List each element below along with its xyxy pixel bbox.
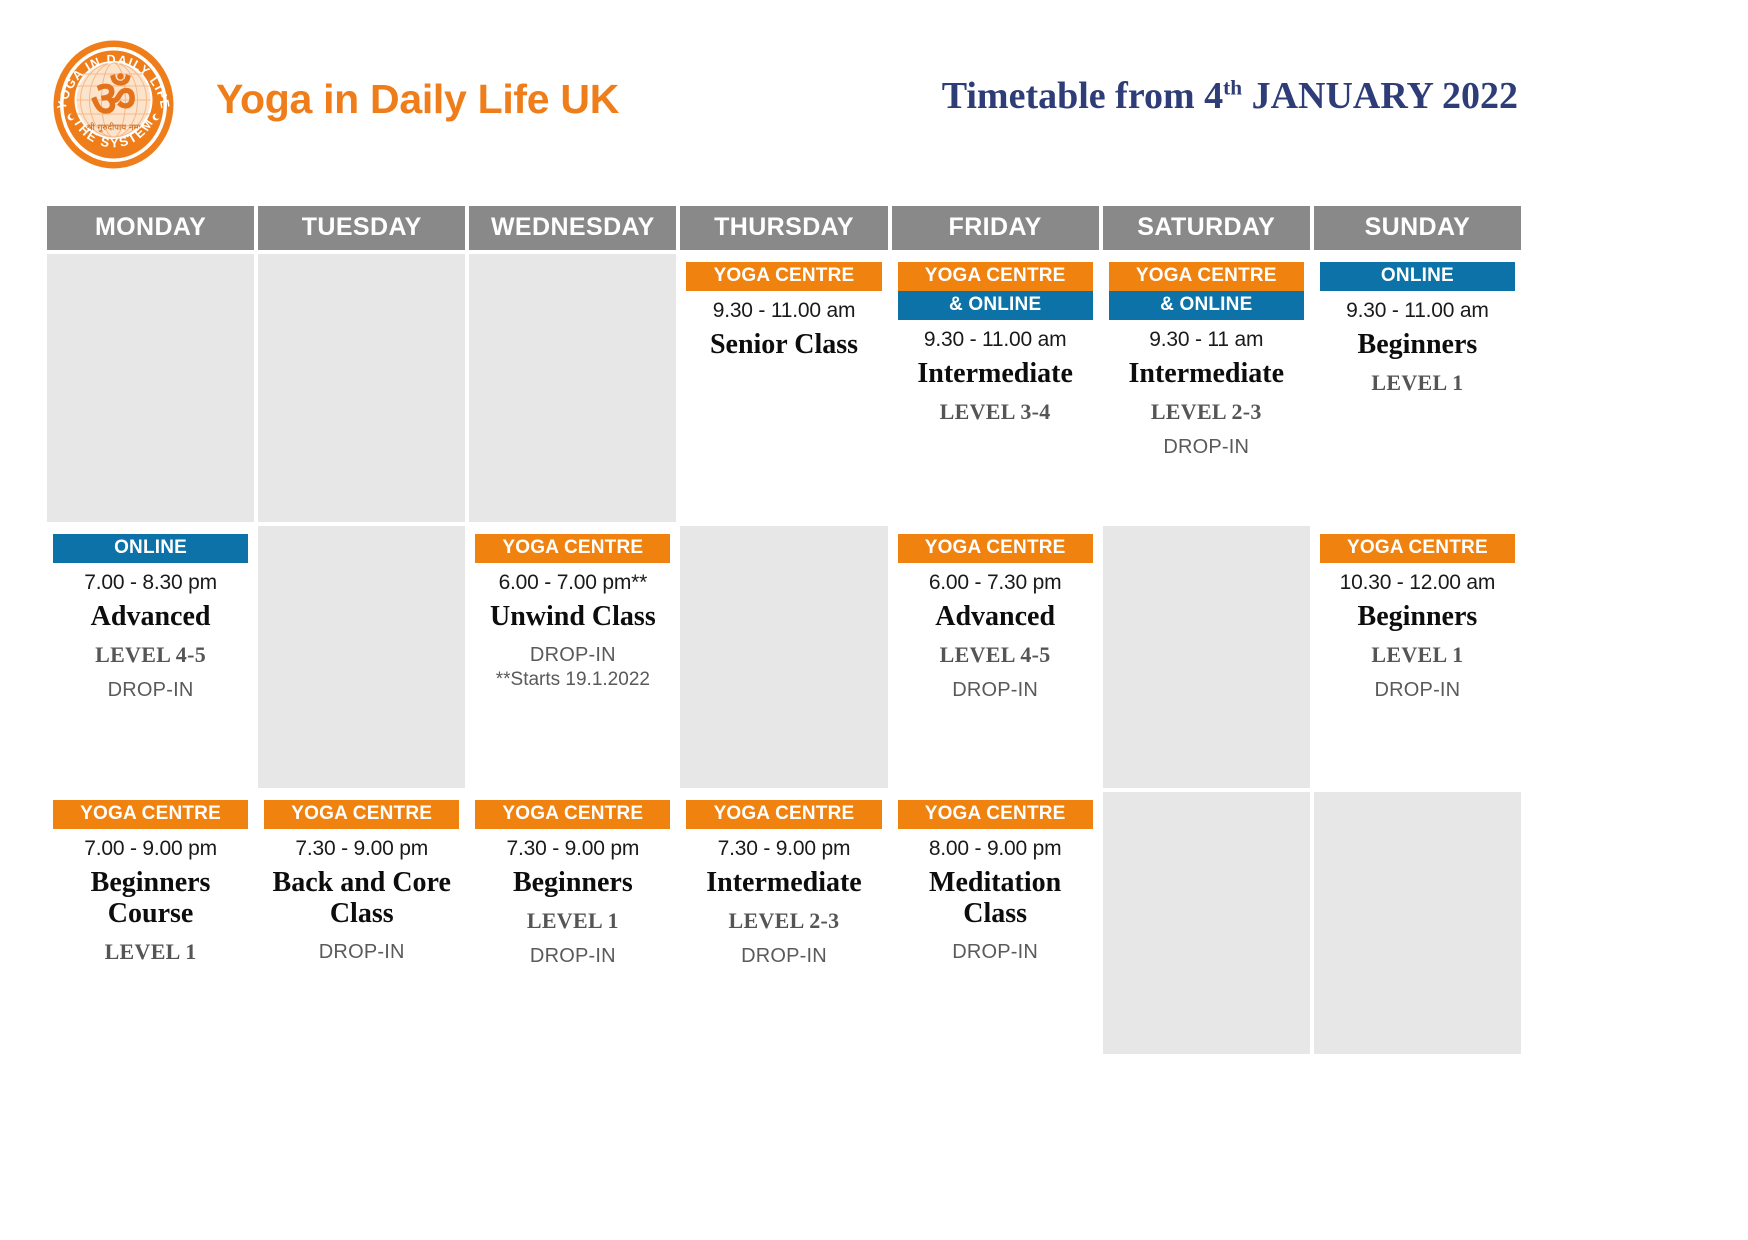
class-card-thursday-3[interactable]: YOGA CENTRE7.30 - 9.00 pmIntermediateLEV… — [680, 792, 887, 1054]
class-time: 9.30 - 11 am — [1109, 328, 1304, 352]
class-name: Back and Core Class — [264, 867, 459, 929]
class-card-body: YOGA CENTRE& ONLINE9.30 - 11 amIntermedi… — [1103, 254, 1310, 458]
class-level: LEVEL 2-3 — [686, 909, 881, 933]
drop-in-tag: DROP-IN — [1320, 679, 1515, 701]
class-card-body: YOGA CENTRE8.00 - 9.00 pmMeditation Clas… — [892, 792, 1099, 963]
class-time: 9.30 - 11.00 am — [1320, 299, 1515, 323]
class-level: LEVEL 1 — [475, 909, 670, 933]
page-header: ॐ श्री गुरुदीपाय नमः YOGA IN DAILY LIFE … — [0, 0, 1748, 190]
class-name: Intermediate — [1109, 358, 1304, 389]
class-card-friday-1[interactable]: YOGA CENTRE& ONLINE9.30 - 11.00 amInterm… — [892, 254, 1099, 522]
day-header-friday: FRIDAY — [892, 206, 1099, 250]
online-badge: & ONLINE — [1109, 291, 1304, 320]
class-card-sunday-1[interactable]: ONLINE9.30 - 11.00 amBeginnersLEVEL 1 — [1314, 254, 1521, 522]
class-card-thursday-1[interactable]: YOGA CENTRE9.30 - 11.00 amSenior Class — [680, 254, 887, 522]
day-header-thursday: THURSDAY — [680, 206, 887, 250]
class-name: Beginners — [1320, 601, 1515, 632]
drop-in-tag: DROP-IN — [475, 945, 670, 967]
class-card-sunday-2[interactable]: YOGA CENTRE10.30 - 12.00 amBeginnersLEVE… — [1314, 526, 1521, 788]
empty-slot-wednesday-1 — [469, 254, 676, 522]
online-badge: ONLINE — [53, 534, 248, 563]
day-header-monday: MONDAY — [47, 206, 254, 250]
empty-slot-monday-1 — [47, 254, 254, 522]
class-card-wednesday-3[interactable]: YOGA CENTRE7.30 - 9.00 pmBeginnersLEVEL … — [469, 792, 676, 1054]
class-level: LEVEL 1 — [1320, 643, 1515, 667]
yoga-centre-badge: YOGA CENTRE — [1320, 534, 1515, 563]
day-header-wednesday: WEDNESDAY — [469, 206, 676, 250]
empty-slot-sunday-3 — [1314, 792, 1521, 1054]
timetable-grid: MONDAYTUESDAYWEDNESDAYTHURSDAYFRIDAYSATU… — [47, 206, 1521, 1054]
page-title-prefix: Timetable from 4 — [942, 75, 1223, 117]
class-card-body: YOGA CENTRE7.30 - 9.00 pmBeginnersLEVEL … — [469, 792, 676, 967]
class-time: 7.00 - 8.30 pm — [53, 571, 248, 595]
class-name: Advanced — [898, 601, 1093, 632]
class-card-body: YOGA CENTRE7.30 - 9.00 pmBack and Core C… — [258, 792, 465, 963]
yoga-centre-badge: YOGA CENTRE — [898, 534, 1093, 563]
yoga-centre-badge: YOGA CENTRE — [53, 800, 248, 829]
drop-in-tag: DROP-IN — [898, 941, 1093, 963]
class-name: Beginners Course — [53, 867, 248, 929]
yoga-centre-badge: YOGA CENTRE — [686, 262, 881, 291]
class-name: Advanced — [53, 601, 248, 632]
class-card-body: ONLINE7.00 - 8.30 pmAdvancedLEVEL 4-5DRO… — [47, 526, 254, 701]
page-title-ordinal: th — [1223, 75, 1242, 99]
yoga-centre-badge: YOGA CENTRE — [898, 800, 1093, 829]
class-level: LEVEL 1 — [53, 940, 248, 964]
class-card-monday-2[interactable]: ONLINE7.00 - 8.30 pmAdvancedLEVEL 4-5DRO… — [47, 526, 254, 788]
drop-in-tag: DROP-IN — [53, 679, 248, 701]
class-name: Intermediate — [898, 358, 1093, 389]
yoga-centre-badge: YOGA CENTRE — [475, 534, 670, 563]
class-time: 10.30 - 12.00 am — [1320, 571, 1515, 595]
class-name: Senior Class — [686, 329, 881, 360]
class-level: LEVEL 1 — [1320, 371, 1515, 395]
class-name: Beginners — [475, 867, 670, 898]
class-time: 7.30 - 9.00 pm — [686, 837, 881, 861]
yoga-in-daily-life-emblem-icon: ॐ श्री गुरुदीपाय नमः YOGA IN DAILY LIFE … — [47, 38, 180, 171]
class-level: LEVEL 2-3 — [1109, 400, 1304, 424]
page-title: Timetable from 4th JANUARY 2022 — [828, 74, 1518, 118]
brand-title: Yoga in Daily Life UK — [216, 76, 619, 123]
class-card-body: YOGA CENTRE& ONLINE9.30 - 11.00 amInterm… — [892, 254, 1099, 424]
svg-text:ॐ: ॐ — [91, 71, 137, 127]
empty-slot-tuesday-1 — [258, 254, 465, 522]
class-card-monday-3[interactable]: YOGA CENTRE7.00 - 9.00 pmBeginners Cours… — [47, 792, 254, 1054]
drop-in-tag: DROP-IN — [1109, 436, 1304, 458]
drop-in-tag: DROP-IN — [264, 941, 459, 963]
class-card-body: YOGA CENTRE10.30 - 12.00 amBeginnersLEVE… — [1314, 526, 1521, 701]
empty-slot-tuesday-2 — [258, 526, 465, 788]
empty-slot-saturday-3 — [1103, 792, 1310, 1054]
class-card-body: YOGA CENTRE9.30 - 11.00 amSenior Class — [680, 254, 887, 360]
class-time: 9.30 - 11.00 am — [686, 299, 881, 323]
class-card-friday-3[interactable]: YOGA CENTRE8.00 - 9.00 pmMeditation Clas… — [892, 792, 1099, 1054]
class-card-body: YOGA CENTRE6.00 - 7.30 pmAdvancedLEVEL 4… — [892, 526, 1099, 701]
yoga-centre-badge: YOGA CENTRE — [475, 800, 670, 829]
class-time: 7.00 - 9.00 pm — [53, 837, 248, 861]
class-name: Beginners — [1320, 329, 1515, 360]
day-header-sunday: SUNDAY — [1314, 206, 1521, 250]
class-card-tuesday-3[interactable]: YOGA CENTRE7.30 - 9.00 pmBack and Core C… — [258, 792, 465, 1054]
class-time: 6.00 - 7.00 pm** — [475, 571, 670, 595]
class-time: 6.00 - 7.30 pm — [898, 571, 1093, 595]
class-note: **Starts 19.1.2022 — [475, 669, 670, 690]
yoga-centre-badge: YOGA CENTRE — [898, 262, 1093, 291]
page-title-suffix: JANUARY 2022 — [1242, 75, 1518, 117]
class-name: Intermediate — [686, 867, 881, 898]
yoga-centre-badge: YOGA CENTRE — [1109, 262, 1304, 291]
class-name: Unwind Class — [475, 601, 670, 632]
class-time: 9.30 - 11.00 am — [898, 328, 1093, 352]
class-card-body: YOGA CENTRE7.00 - 9.00 pmBeginners Cours… — [47, 792, 254, 964]
drop-in-tag: DROP-IN — [475, 644, 670, 666]
yoga-centre-badge: YOGA CENTRE — [686, 800, 881, 829]
drop-in-tag: DROP-IN — [686, 945, 881, 967]
class-name: Meditation Class — [898, 867, 1093, 929]
class-time: 7.30 - 9.00 pm — [264, 837, 459, 861]
class-level: LEVEL 4-5 — [898, 643, 1093, 667]
online-badge: ONLINE — [1320, 262, 1515, 291]
day-header-saturday: SATURDAY — [1103, 206, 1310, 250]
class-card-body: ONLINE9.30 - 11.00 amBeginnersLEVEL 1 — [1314, 254, 1521, 395]
class-time: 7.30 - 9.00 pm — [475, 837, 670, 861]
day-header-tuesday: TUESDAY — [258, 206, 465, 250]
empty-slot-saturday-2 — [1103, 526, 1310, 788]
timetable-page: ॐ श्री गुरुदीपाय नमः YOGA IN DAILY LIFE … — [0, 0, 1748, 1240]
class-card-wednesday-2[interactable]: YOGA CENTRE6.00 - 7.00 pm**Unwind ClassD… — [469, 526, 676, 788]
class-card-body: YOGA CENTRE7.30 - 9.00 pmIntermediateLEV… — [680, 792, 887, 967]
class-card-saturday-1[interactable]: YOGA CENTRE& ONLINE9.30 - 11 amIntermedi… — [1103, 254, 1310, 522]
online-badge: & ONLINE — [898, 291, 1093, 320]
class-level: LEVEL 3-4 — [898, 400, 1093, 424]
class-level: LEVEL 4-5 — [53, 643, 248, 667]
yoga-centre-badge: YOGA CENTRE — [264, 800, 459, 829]
empty-slot-thursday-2 — [680, 526, 887, 788]
drop-in-tag: DROP-IN — [898, 679, 1093, 701]
class-card-body: YOGA CENTRE6.00 - 7.00 pm**Unwind ClassD… — [469, 526, 676, 690]
class-time: 8.00 - 9.00 pm — [898, 837, 1093, 861]
class-card-friday-2[interactable]: YOGA CENTRE6.00 - 7.30 pmAdvancedLEVEL 4… — [892, 526, 1099, 788]
